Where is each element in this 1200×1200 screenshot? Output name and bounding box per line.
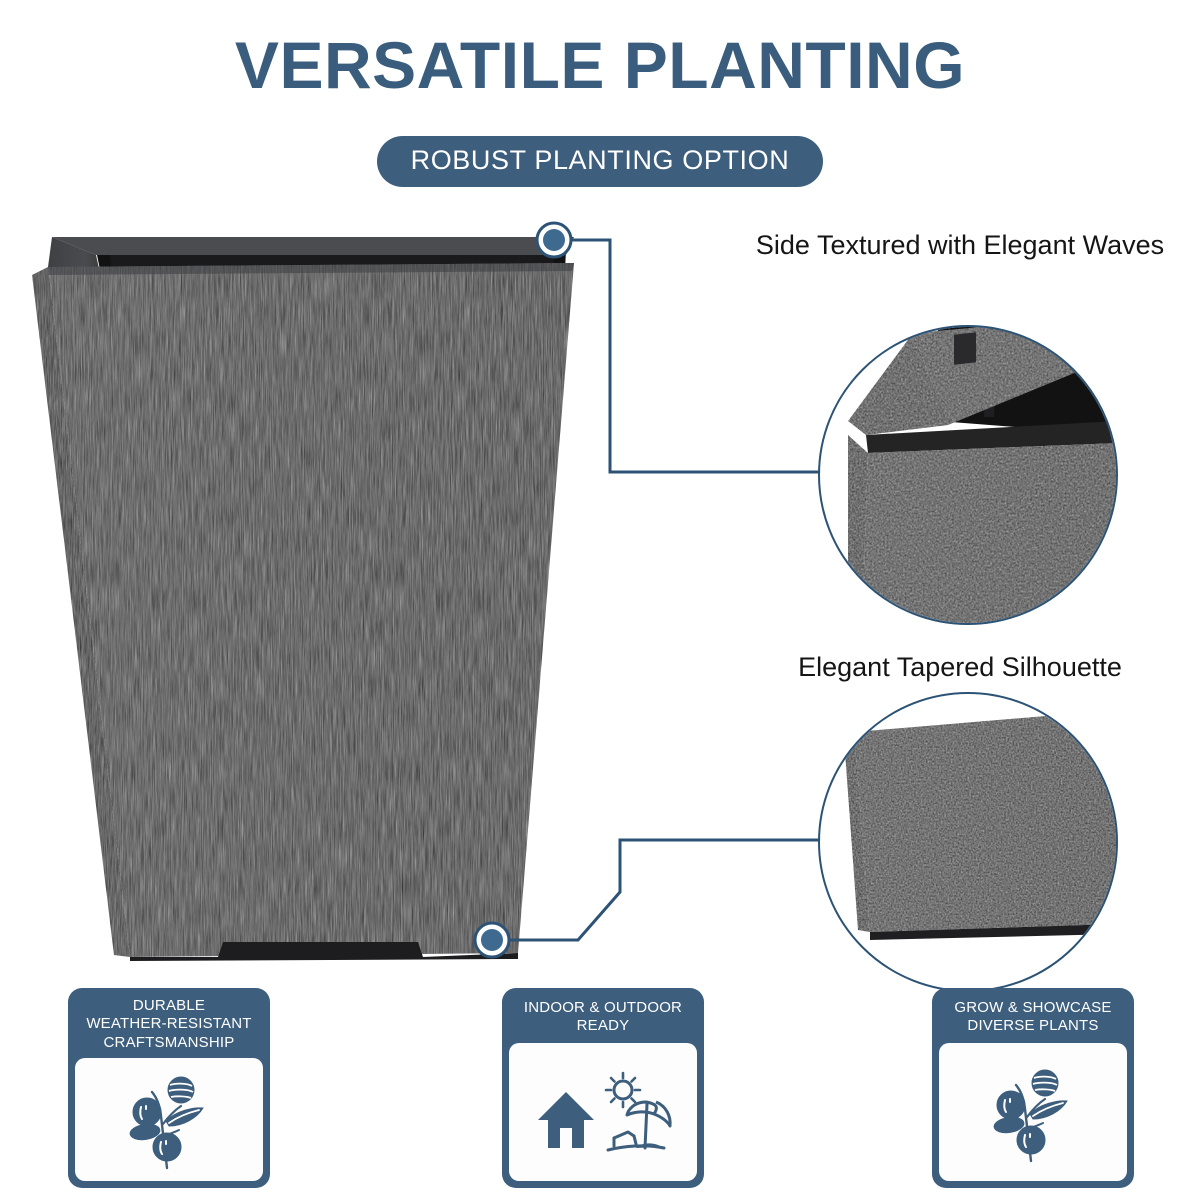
feature-card-title: INDOOR & OUTDOOR READY: [509, 997, 697, 1037]
planter-taper-detail: [818, 692, 1118, 992]
feature-card-durable[interactable]: DURABLE WEATHER-RESISTANT CRAFTSMANSHIP: [68, 988, 270, 1188]
callout-dot-icon-top[interactable]: [524, 212, 584, 272]
planter-illustration: [18, 215, 598, 975]
feature-card-icon-panel: [509, 1043, 697, 1181]
feature-card-title: GROW & SHOWCASE DIVERSE PLANTS: [939, 997, 1127, 1037]
feature-card-grow-showcase[interactable]: GROW & SHOWCASE DIVERSE PLANTS: [932, 988, 1134, 1188]
page-title: VERSATILE PLANTING: [0, 32, 1200, 98]
detail-bubble-tapered-silhouette: [818, 692, 1118, 992]
infographic-canvas: VERSATILE PLANTING ROBUST PLANTING OPTIO…: [0, 0, 1200, 1200]
detail-bubble-side-texture: [818, 325, 1118, 625]
callout-label-side-texture: Side Textured with Elegant Waves: [735, 228, 1185, 263]
feature-card-indoor-outdoor[interactable]: INDOOR & OUTDOOR READY: [502, 988, 704, 1188]
callout-label-tapered-silhouette: Elegant Tapered Silhouette: [735, 650, 1185, 685]
feature-card-icon-panel: [939, 1043, 1127, 1181]
planter-product-image: [18, 215, 598, 975]
feature-card-title: DURABLE WEATHER-RESISTANT CRAFTSMANSHIP: [75, 997, 263, 1052]
subtitle-badge: ROBUST PLANTING OPTION: [377, 136, 824, 187]
planter-corner-detail: [818, 325, 1118, 625]
plant-sprig-icon: [119, 1064, 219, 1174]
subtitle-badge-wrapper: ROBUST PLANTING OPTION: [0, 136, 1200, 187]
plant-sprig-icon: [983, 1057, 1083, 1167]
callout-dot-icon-bottom[interactable]: [462, 912, 522, 972]
feature-card-icon-panel: [75, 1058, 263, 1181]
house-sun-beach-icon: [528, 1064, 678, 1160]
feature-cards-row: DURABLE WEATHER-RESISTANT CRAFTSMANSHIP: [0, 988, 1200, 1194]
